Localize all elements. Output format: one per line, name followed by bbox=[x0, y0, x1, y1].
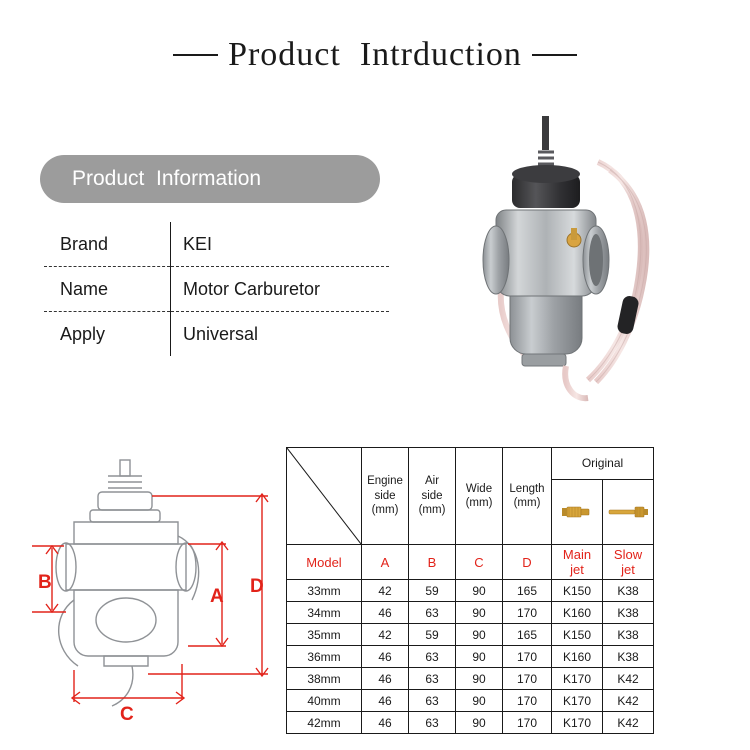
spec-header-engine-side: Engineside(mm) bbox=[362, 448, 409, 545]
cell-d: 170 bbox=[503, 712, 552, 734]
cell-slow-jet: K38 bbox=[603, 646, 654, 668]
cell-a: 46 bbox=[362, 690, 409, 712]
cell-a: 46 bbox=[362, 712, 409, 734]
cell-model: 36mm bbox=[287, 646, 362, 668]
spec-header-original: Original bbox=[552, 448, 654, 480]
cell-model: 33mm bbox=[287, 580, 362, 602]
cell-c: 90 bbox=[456, 690, 503, 712]
cell-a: 42 bbox=[362, 624, 409, 646]
cell-main-jet: K170 bbox=[552, 668, 603, 690]
slow-jet-icon bbox=[605, 499, 651, 525]
cell-d: 170 bbox=[503, 668, 552, 690]
cell-main-jet: K160 bbox=[552, 646, 603, 668]
table-row: Brand KEI bbox=[44, 222, 389, 267]
cell-d: 170 bbox=[503, 690, 552, 712]
spec-label-a: A bbox=[362, 545, 409, 580]
spec-label-main-jet: Mainjet bbox=[552, 545, 603, 580]
cell-c: 90 bbox=[456, 580, 503, 602]
spec-label-slow-jet: Slowjet bbox=[603, 545, 654, 580]
info-key-name: Name bbox=[44, 267, 171, 312]
cell-c: 90 bbox=[456, 712, 503, 734]
spec-header-wide: Wide(mm) bbox=[456, 448, 503, 545]
cell-b: 63 bbox=[409, 668, 456, 690]
carburetor-product-photo bbox=[470, 110, 740, 410]
spec-header-air-side: Airside(mm) bbox=[409, 448, 456, 545]
cell-b: 63 bbox=[409, 712, 456, 734]
cell-c: 90 bbox=[456, 602, 503, 624]
dimension-label-b: B bbox=[38, 572, 52, 593]
table-row: 36mm 46 63 90 170 K160 K38 bbox=[287, 646, 654, 668]
cell-main-jet: K150 bbox=[552, 580, 603, 602]
spec-label-model: Model bbox=[287, 545, 362, 580]
cell-model: 35mm bbox=[287, 624, 362, 646]
info-key-brand: Brand bbox=[44, 222, 171, 267]
cell-slow-jet: K42 bbox=[603, 712, 654, 734]
diagonal-slash-icon bbox=[287, 448, 361, 544]
title-rule-left bbox=[173, 54, 218, 56]
cell-b: 63 bbox=[409, 690, 456, 712]
cell-main-jet: K150 bbox=[552, 624, 603, 646]
cell-model: 40mm bbox=[287, 690, 362, 712]
cell-c: 90 bbox=[456, 646, 503, 668]
spec-letter-row: Model A B C D Mainjet Slowjet bbox=[287, 545, 654, 580]
product-information-label: Product Information bbox=[72, 167, 261, 191]
dimension-label-d: D bbox=[250, 576, 264, 597]
cell-model: 38mm bbox=[287, 668, 362, 690]
cell-model: 42mm bbox=[287, 712, 362, 734]
page-title-row: Product Intrduction bbox=[0, 36, 750, 74]
spec-header-length: Length(mm) bbox=[503, 448, 552, 545]
cell-d: 165 bbox=[503, 624, 552, 646]
info-key-apply: Apply bbox=[44, 312, 171, 357]
dimension-label-a: A bbox=[210, 586, 224, 607]
table-row: 33mm 42 59 90 165 K150 K38 bbox=[287, 580, 654, 602]
table-row: 38mm 46 63 90 170 K170 K42 bbox=[287, 668, 654, 690]
specification-table-wrapper: Engineside(mm) Airside(mm) Wide(mm) Leng… bbox=[286, 447, 654, 734]
cell-d: 165 bbox=[503, 580, 552, 602]
dimension-drawing: D A B C bbox=[12, 440, 282, 740]
dimension-label-c: C bbox=[120, 704, 134, 725]
cell-a: 46 bbox=[362, 646, 409, 668]
cell-slow-jet: K42 bbox=[603, 668, 654, 690]
title-rule-right bbox=[532, 54, 577, 56]
main-jet-image-cell bbox=[552, 479, 603, 544]
cell-main-jet: K170 bbox=[552, 690, 603, 712]
info-value-brand: KEI bbox=[171, 222, 390, 267]
cell-b: 59 bbox=[409, 580, 456, 602]
cell-d: 170 bbox=[503, 646, 552, 668]
cell-b: 63 bbox=[409, 646, 456, 668]
product-information-banner: Product Information bbox=[40, 155, 380, 203]
cell-b: 59 bbox=[409, 624, 456, 646]
cell-c: 90 bbox=[456, 668, 503, 690]
spec-corner-cell bbox=[287, 448, 362, 545]
table-row: Apply Universal bbox=[44, 312, 389, 357]
cell-b: 63 bbox=[409, 602, 456, 624]
specification-table: Engineside(mm) Airside(mm) Wide(mm) Leng… bbox=[286, 447, 654, 734]
info-value-apply: Universal bbox=[171, 312, 390, 357]
cell-main-jet: K170 bbox=[552, 712, 603, 734]
product-information-table: Brand KEI Name Motor Carburetor Apply Un… bbox=[44, 222, 389, 356]
cell-a: 46 bbox=[362, 602, 409, 624]
spec-label-d: D bbox=[503, 545, 552, 580]
cell-a: 42 bbox=[362, 580, 409, 602]
cell-slow-jet: K42 bbox=[603, 690, 654, 712]
cell-slow-jet: K38 bbox=[603, 602, 654, 624]
cell-slow-jet: K38 bbox=[603, 624, 654, 646]
cell-slow-jet: K38 bbox=[603, 580, 654, 602]
cell-a: 46 bbox=[362, 668, 409, 690]
info-value-name: Motor Carburetor bbox=[171, 267, 390, 312]
cell-c: 90 bbox=[456, 624, 503, 646]
cell-d: 170 bbox=[503, 602, 552, 624]
table-row: 35mm 42 59 90 165 K150 K38 bbox=[287, 624, 654, 646]
spec-header-row-1: Engineside(mm) Airside(mm) Wide(mm) Leng… bbox=[287, 448, 654, 480]
spec-label-b: B bbox=[409, 545, 456, 580]
cell-model: 34mm bbox=[287, 602, 362, 624]
main-jet-icon bbox=[557, 499, 597, 525]
table-row: 42mm 46 63 90 170 K170 K42 bbox=[287, 712, 654, 734]
slow-jet-image-cell bbox=[603, 479, 654, 544]
cell-main-jet: K160 bbox=[552, 602, 603, 624]
page-title: Product Intrduction bbox=[228, 36, 522, 74]
table-row: Name Motor Carburetor bbox=[44, 267, 389, 312]
spec-label-c: C bbox=[456, 545, 503, 580]
table-row: 40mm 46 63 90 170 K170 K42 bbox=[287, 690, 654, 712]
table-row: 34mm 46 63 90 170 K160 K38 bbox=[287, 602, 654, 624]
